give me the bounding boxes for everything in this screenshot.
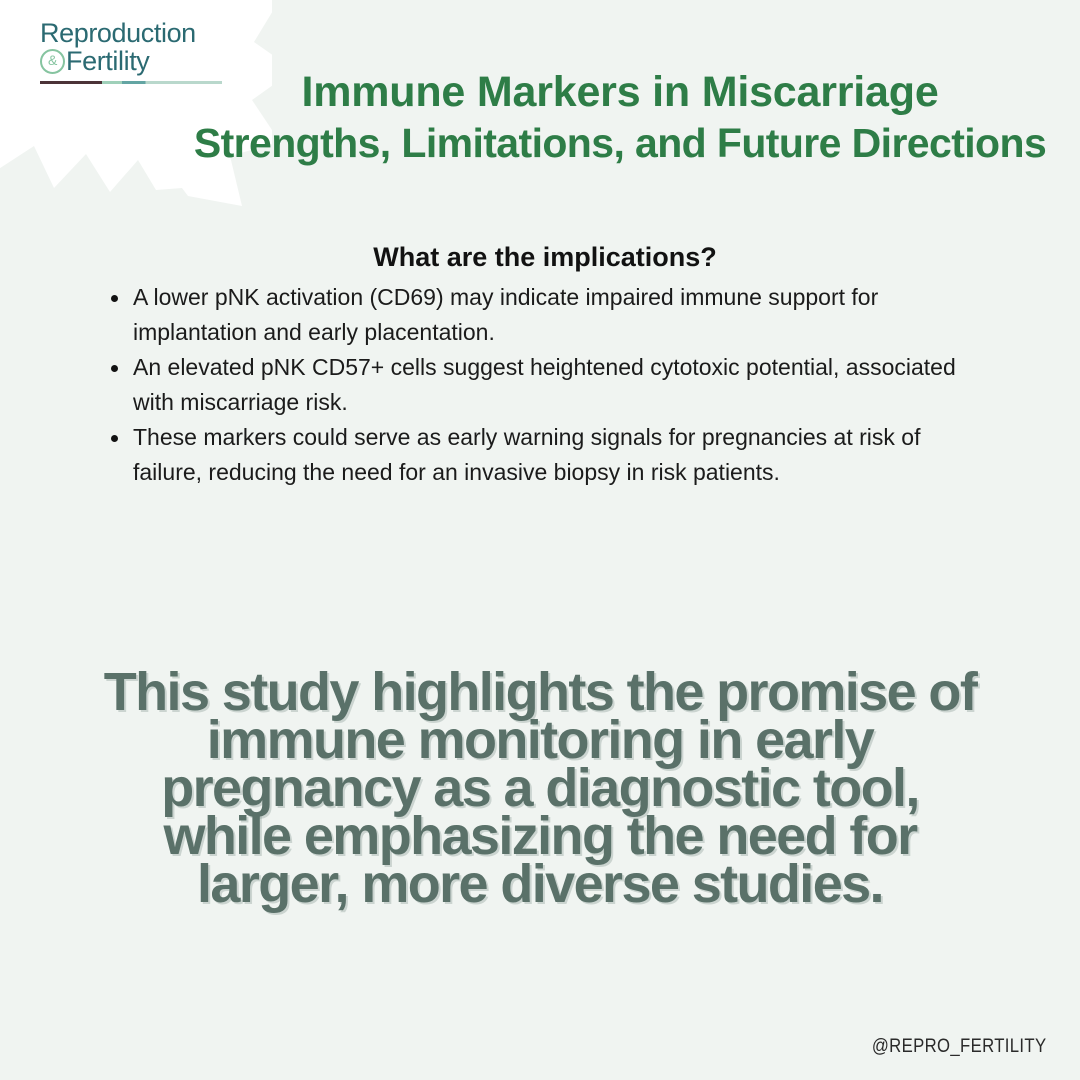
logo-line-reproduction: Reproduction xyxy=(40,19,240,47)
ampersand-icon: & xyxy=(40,49,65,74)
pull-quote-line: immune monitoring in early xyxy=(60,716,1020,764)
logo-fertility-text: Fertility xyxy=(66,47,149,76)
slide-canvas: Reproduction & Fertility Immune Markers … xyxy=(0,0,1080,1080)
pull-quote: This study highlights the promise of imm… xyxy=(60,668,1020,908)
implications-section: What are the implications? A lower pNK a… xyxy=(95,240,995,490)
list-item: A lower pNK activation (CD69) may indica… xyxy=(133,280,995,350)
implications-heading: What are the implications? xyxy=(95,240,995,274)
list-item: These markers could serve as early warni… xyxy=(133,420,995,490)
pull-quote-line: This study highlights the promise of xyxy=(60,668,1020,716)
implications-bullet-list: A lower pNK activation (CD69) may indica… xyxy=(95,280,995,490)
pull-quote-line: pregnancy as a diagnostic tool, xyxy=(60,764,1020,812)
title-line-2: Strengths, Limitations, and Future Direc… xyxy=(170,118,1070,168)
page-title: Immune Markers in Miscarriage Strengths,… xyxy=(170,66,1070,168)
pull-quote-line: while emphasizing the need for xyxy=(60,812,1020,860)
pull-quote-line: larger, more diverse studies. xyxy=(60,860,1020,908)
title-line-1: Immune Markers in Miscarriage xyxy=(170,66,1070,118)
social-handle: @REPRO_FERTILITY xyxy=(871,1036,1046,1058)
list-item: An elevated pNK CD57+ cells suggest heig… xyxy=(133,350,995,420)
